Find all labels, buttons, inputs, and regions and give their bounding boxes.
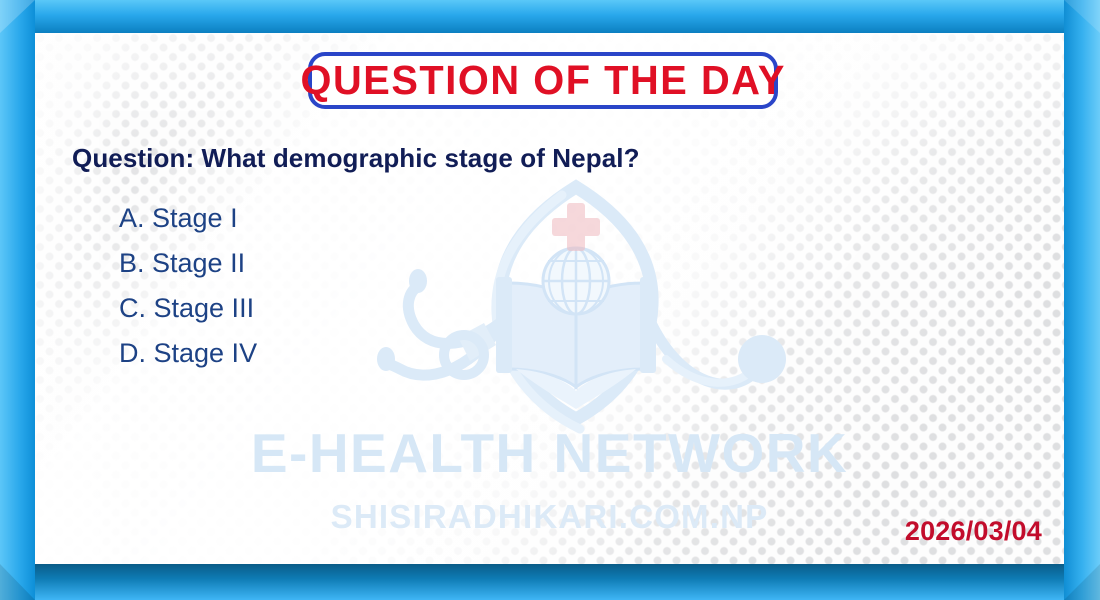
answer-option-c[interactable]: C. Stage III (119, 286, 257, 331)
date-stamp: 2026/03/04 (905, 516, 1042, 547)
medical-cross-icon (552, 203, 600, 251)
banner-title-text: QUESTION OF THE DAY (300, 60, 785, 101)
answer-option-b[interactable]: B. Stage II (119, 241, 257, 286)
question-of-the-day-banner: QUESTION OF THE DAY (308, 52, 778, 109)
frame-border-top (0, 0, 1100, 33)
question-text: Question: What demographic stage of Nepa… (72, 143, 640, 174)
answer-option-a[interactable]: A. Stage I (119, 196, 257, 241)
answer-option-d[interactable]: D. Stage IV (119, 331, 257, 376)
watermark-brand-text: E-HEALTH NETWORK (35, 426, 1064, 481)
answer-options-list: A. Stage I B. Stage II C. Stage III D. S… (119, 196, 257, 376)
content-canvas: E-HEALTH NETWORK SHISIRADHIKARI.COM.NP Q… (35, 33, 1064, 564)
frame-border-left (0, 0, 35, 600)
slide-root: E-HEALTH NETWORK SHISIRADHIKARI.COM.NP Q… (0, 0, 1100, 600)
frame-border-right (1064, 0, 1100, 600)
frame-border-bottom (0, 564, 1100, 600)
